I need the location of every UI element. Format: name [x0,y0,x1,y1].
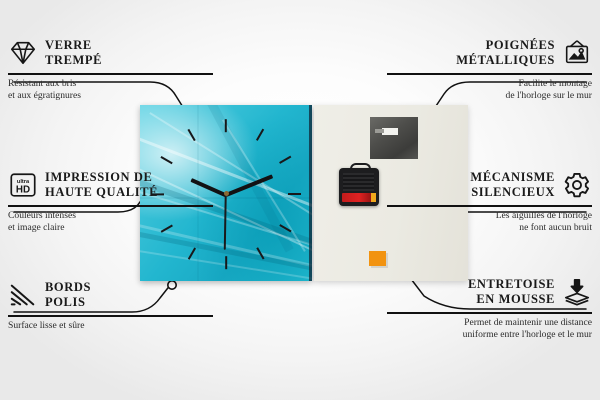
gear-icon [562,170,592,200]
feature-description: Les aiguilles de l'horloge ne font aucun… [387,210,592,235]
infographic-canvas: VERRE TREMPÉ Résistant aux bris et aux é… [0,0,600,400]
feature-description: Résistant aux bris et aux égratignures [8,78,213,103]
svg-text:HD: HD [16,185,30,196]
feature-verre-trempe: VERRE TREMPÉ Résistant aux bris et aux é… [8,36,213,103]
clock-mechanism-box [339,168,379,206]
clock-second-hand [224,194,226,250]
feature-impression-haute-qualite: ultra HD IMPRESSION DE HAUTE QUALITÉ Cou… [8,168,213,235]
feature-poignees-metalliques: POIGNÉES MÉTALLIQUES Facilite le montage… [387,36,592,103]
divider [8,73,213,75]
feature-description: Couleurs intenses et image claire [8,210,213,235]
foam-spacer [369,251,386,266]
hanging-frame-icon [562,38,592,68]
feature-mecanisme-silencieux: MÉCANISME SILENCIEUX Les aiguilles de l'… [387,168,592,235]
divider [8,315,213,317]
feature-title: MÉCANISME SILENCIEUX [470,170,555,201]
clock-minute-hand [225,174,273,196]
divider [387,312,592,314]
foam-spacer-icon [562,277,592,307]
polished-edges-icon [8,280,38,310]
clock-center-pin [224,191,229,196]
feature-description: Surface lisse et sûre [8,320,213,333]
feature-title: BORDS POLIS [45,280,91,311]
metal-hanger-plate [370,117,418,159]
feature-entretoise-en-mousse: ENTRETOISE EN MOUSSE Permet de maintenir… [387,275,592,342]
diamond-icon [8,38,38,68]
feature-title: VERRE TREMPÉ [45,38,102,69]
feature-title: IMPRESSION DE HAUTE QUALITÉ [45,170,158,201]
divider [387,205,592,207]
ultra-hd-icon: ultra HD [8,170,38,200]
feature-description: Facilite le montage de l'horloge sur le … [387,78,592,103]
feature-title: POIGNÉES MÉTALLIQUES [456,38,555,69]
feature-title: ENTRETOISE EN MOUSSE [468,277,555,308]
divider [387,73,592,75]
battery [342,193,373,202]
feature-bords-polis: BORDS POLIS Surface lisse et sûre [8,278,213,332]
divider [8,205,213,207]
feature-description: Permet de maintenir une distance uniform… [387,317,592,342]
